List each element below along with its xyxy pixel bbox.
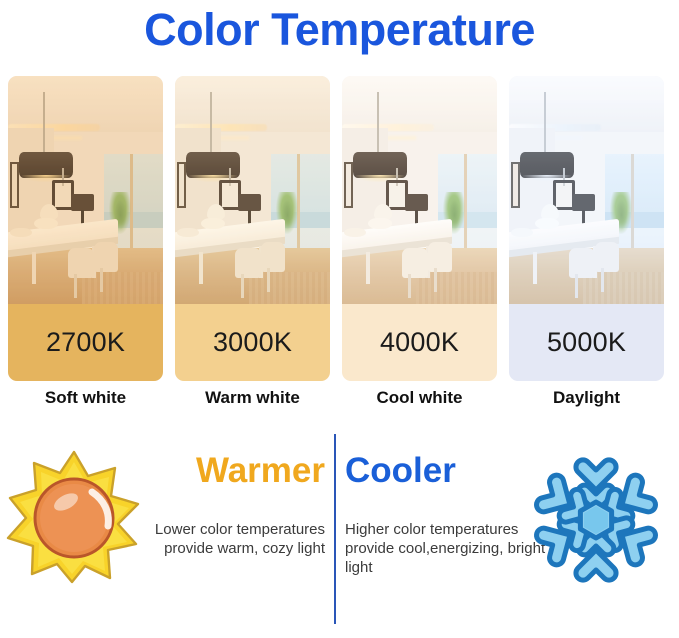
room-photo-4000k [342,76,497,304]
kelvin-label: 4000K [380,329,459,356]
color-temperature-infographic: Color Temperature [0,0,679,638]
swatch-panel-3000k[interactable]: 3000K [175,76,330,381]
comparison-section: Warmer Cooler Lower color temperatures p… [0,428,679,628]
room-photo-2700k [8,76,163,304]
cooler-description: Higher color temperatures provide cool,e… [345,520,555,577]
swatch-panel-4000k[interactable]: 4000K [342,76,497,381]
kelvin-strip-3000k: 3000K [175,304,330,381]
room-photo-3000k [175,76,330,304]
caption-cool-white: Cool white [342,388,497,408]
swatch-panel-5000k[interactable]: 5000K [509,76,664,381]
page-title: Color Temperature [0,2,679,58]
kelvin-strip-4000k: 4000K [342,304,497,381]
swatch-panel-row: 2700K [8,76,671,381]
warmer-description: Lower color temperatures provide warm, c… [118,520,325,558]
kelvin-label: 3000K [213,329,292,356]
caption-row: Soft white Warm white Cool white Dayligh… [8,388,671,414]
section-divider [334,434,336,624]
kelvin-label: 2700K [46,329,125,356]
caption-soft-white: Soft white [8,388,163,408]
kelvin-strip-2700k: 2700K [8,304,163,381]
caption-daylight: Daylight [509,388,664,408]
room-photo-5000k [509,76,664,304]
warmer-heading: Warmer [140,450,325,492]
sun-icon [4,446,144,586]
swatch-panel-2700k[interactable]: 2700K [8,76,163,381]
caption-warm-white: Warm white [175,388,330,408]
kelvin-strip-5000k: 5000K [509,304,664,381]
kelvin-label: 5000K [547,329,626,356]
cooler-heading: Cooler [345,450,535,492]
snowflake-icon [526,450,666,590]
